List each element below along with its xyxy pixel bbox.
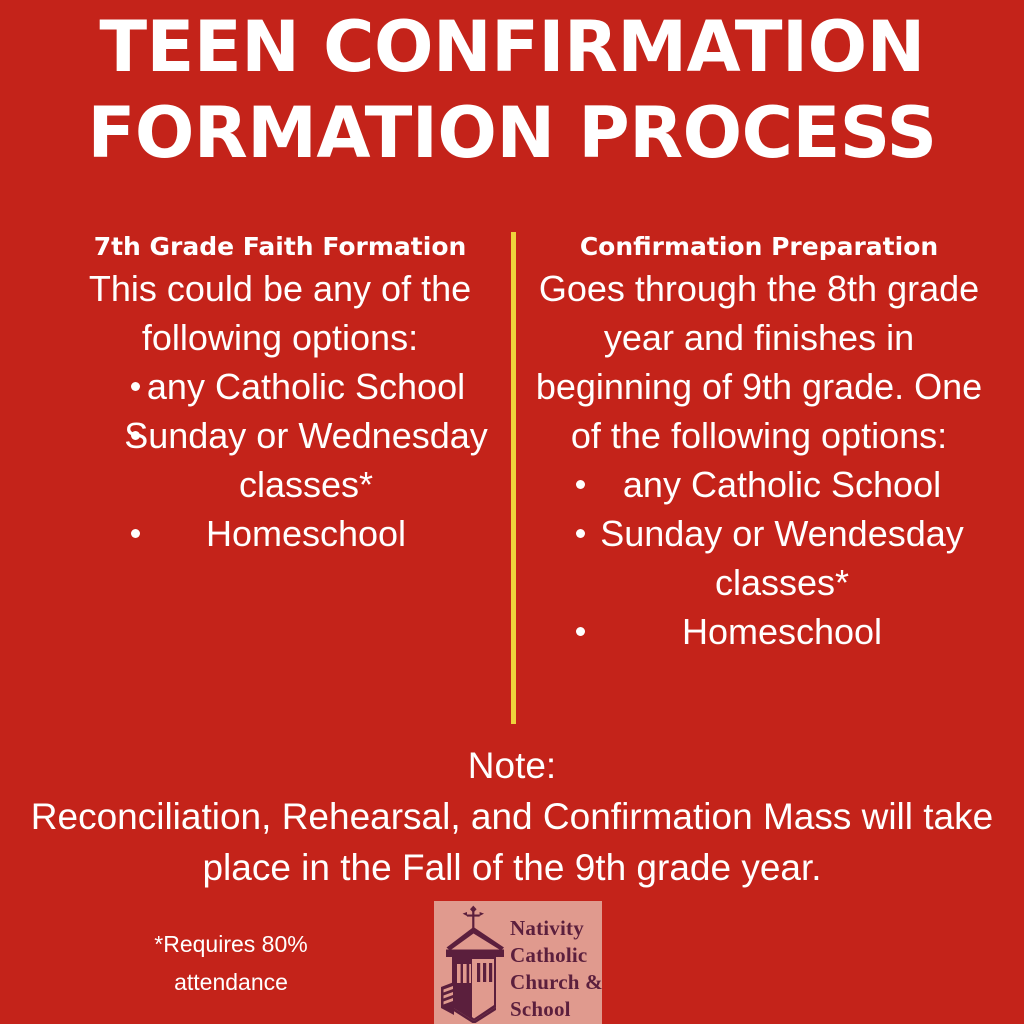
column-right-intro: Goes through the 8th grade year and fini… — [528, 264, 990, 460]
list-item: any Catholic School — [55, 362, 505, 411]
column-left-intro: This could be any of the following optio… — [55, 264, 505, 362]
poster-canvas: TEEN CONFIRMATION FORMATION PROCESS 7th … — [0, 0, 1024, 1024]
column-left-heading: 7th Grade Faith Formation — [55, 232, 505, 262]
poster-title: TEEN CONFIRMATION FORMATION PROCESS — [0, 4, 1024, 176]
note-body: Reconciliation, Rehearsal, and Confirmat… — [0, 791, 1024, 893]
column-left-bullet-list: any Catholic School Sunday or Wednesday … — [55, 362, 505, 558]
bell-tower-icon — [438, 903, 510, 1023]
bullet-dot-icon — [131, 529, 140, 538]
list-item: Homeschool — [528, 607, 990, 656]
list-item: Sunday or Wendesday classes* — [528, 509, 990, 607]
bullet-dot-icon — [576, 529, 585, 538]
list-item: Sunday or Wednesday classes* — [55, 411, 505, 509]
column-right-bullet-list: any Catholic School Sunday or Wendesday … — [528, 460, 990, 656]
column-right-heading: Confirmation Preparation — [528, 232, 990, 262]
columns-section: 7th Grade Faith Formation This could be … — [0, 232, 1024, 724]
title-line-2: FORMATION PROCESS — [0, 90, 1024, 176]
column-left: 7th Grade Faith Formation This could be … — [55, 232, 505, 558]
column-right-intro-text: Goes through the 8th grade year and fini… — [528, 264, 990, 460]
list-item-label: Homeschool — [55, 509, 505, 558]
title-line-1: TEEN CONFIRMATION — [0, 4, 1024, 90]
organization-logo: Nativity Catholic Church & School — [434, 901, 602, 1024]
logo-line-3: Church & — [510, 969, 602, 996]
bullet-dot-icon — [576, 480, 585, 489]
list-item-label: Homeschool — [528, 607, 990, 656]
footnote-text: *Requires 80% attendance — [118, 925, 344, 1001]
list-item: any Catholic School — [528, 460, 990, 509]
logo-line-2: Catholic — [510, 942, 602, 969]
column-right: Confirmation Preparation Goes through th… — [528, 232, 990, 656]
column-left-intro-text: This could be any of the following optio… — [55, 264, 505, 362]
logo-line-4: School — [510, 996, 602, 1023]
note-label: Note: — [0, 740, 1024, 791]
logo-wordmark: Nativity Catholic Church & School — [510, 915, 602, 1023]
column-divider — [511, 232, 516, 724]
list-item-label: Sunday or Wendesday classes* — [528, 509, 990, 607]
bullet-dot-icon — [576, 627, 585, 636]
bullet-dot-icon — [131, 382, 140, 391]
logo-line-1: Nativity — [510, 915, 602, 942]
footnote: *Requires 80% attendance — [118, 925, 344, 1001]
list-item-label: Sunday or Wednesday classes* — [55, 411, 505, 509]
note-section: Note: Reconciliation, Rehearsal, and Con… — [0, 740, 1024, 893]
list-item: Homeschool — [55, 509, 505, 558]
list-item-label: any Catholic School — [528, 460, 990, 509]
bullet-dot-icon — [131, 431, 140, 440]
list-item-label: any Catholic School — [55, 362, 505, 411]
